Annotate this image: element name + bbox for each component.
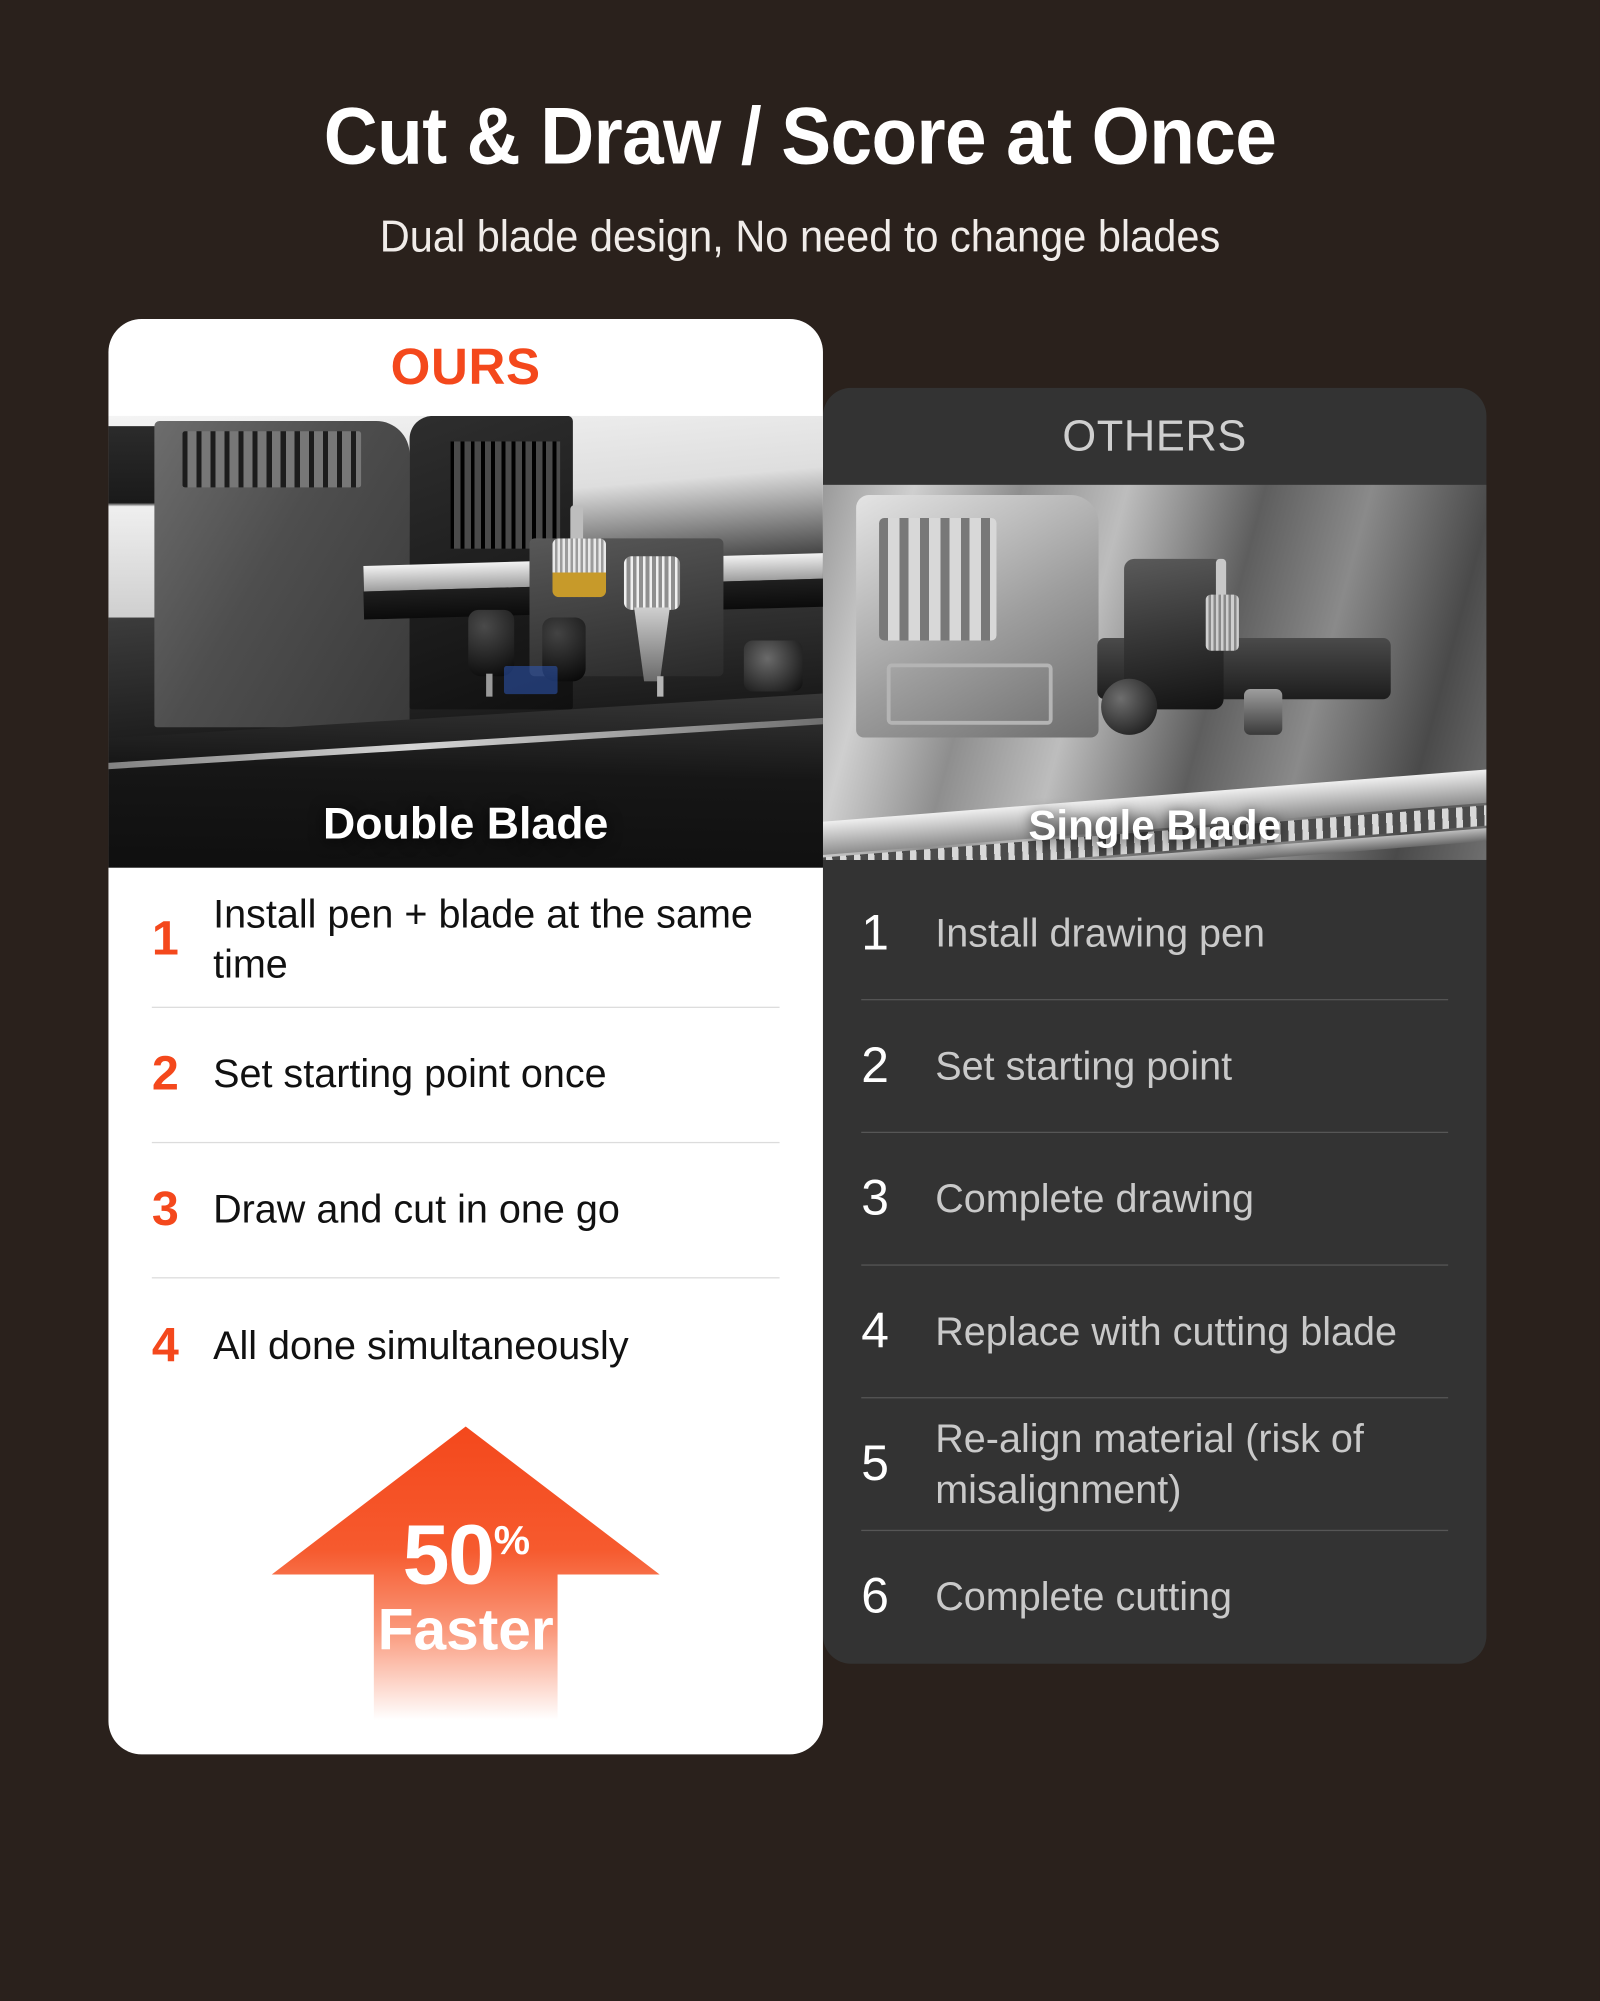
- step-number: 4: [152, 1319, 213, 1374]
- others-card: OTHERS Single Blade 1 Ins: [823, 388, 1486, 1664]
- step-text: Install pen + blade at the same time: [213, 891, 779, 989]
- others-badge: OTHERS: [1062, 412, 1247, 462]
- step-text: Set starting point: [935, 1041, 1232, 1092]
- step-text: All done simultaneously: [213, 1322, 629, 1371]
- step-text: Set starting point once: [213, 1051, 607, 1100]
- others-blade-knob-shape: [1206, 595, 1239, 651]
- others-vent-grille-shape: [879, 518, 996, 640]
- list-item: 6 Complete cutting: [861, 1531, 1448, 1664]
- ours-machine-photo: Double Blade: [108, 416, 823, 868]
- ours-steps-list: 1 Install pen + blade at the same time 2…: [108, 868, 823, 1414]
- page-title: Cut & Draw / Score at Once: [56, 94, 1544, 178]
- step-number: 3: [152, 1183, 213, 1238]
- list-item: 4 All done simultaneously: [152, 1279, 780, 1414]
- list-item: 5 Re-align material (risk of misalignmen…: [861, 1399, 1448, 1532]
- step-number: 2: [861, 1038, 935, 1094]
- step-number: 4: [861, 1304, 935, 1360]
- step-text: Complete cutting: [935, 1572, 1232, 1623]
- step-number: 3: [861, 1171, 935, 1227]
- step-text: Draw and cut in one go: [213, 1186, 620, 1235]
- others-card-header: OTHERS: [823, 388, 1486, 485]
- ours-roller-shape: [744, 641, 803, 692]
- ours-vent-grille-shape: [182, 431, 361, 487]
- header: Cut & Draw / Score at Once Dual blade de…: [0, 0, 1600, 263]
- infographic-stage: Cut & Draw / Score at Once Dual blade de…: [0, 0, 1600, 2001]
- faster-badge: 50% Faster: [108, 1419, 823, 1720]
- ours-card-header: OURS: [108, 319, 823, 416]
- ours-dark-vent-shape: [450, 442, 560, 549]
- list-item: 4 Replace with cutting blade: [861, 1266, 1448, 1399]
- step-text: Replace with cutting blade: [935, 1306, 1397, 1357]
- step-number: 5: [861, 1436, 935, 1492]
- ours-badge: OURS: [391, 339, 541, 396]
- up-arrow-icon: [262, 1419, 670, 1720]
- list-item: 3 Draw and cut in one go: [152, 1143, 780, 1278]
- step-number: 1: [152, 912, 213, 967]
- others-panel-plate-shape: [887, 663, 1053, 724]
- step-text: Re-align material (risk of misalignment): [935, 1414, 1448, 1515]
- list-item: 2 Set starting point once: [152, 1008, 780, 1143]
- others-roller-secondary-shape: [1244, 689, 1282, 735]
- list-item: 1 Install pen + blade at the same time: [152, 873, 780, 1008]
- ours-blade-point-shape: [657, 676, 663, 696]
- step-text: Install drawing pen: [935, 908, 1265, 959]
- list-item: 3 Complete drawing: [861, 1133, 1448, 1266]
- step-text: Complete drawing: [935, 1174, 1254, 1225]
- page-subtitle: Dual blade design, No need to change bla…: [56, 212, 1544, 263]
- ours-sensor-strip-shape: [504, 666, 558, 694]
- others-photo-label: Single Blade: [823, 801, 1486, 849]
- others-steps-list: 1 Install drawing pen 2 Set starting poi…: [823, 860, 1486, 1664]
- step-number: 2: [152, 1048, 213, 1103]
- ours-pen-tip-shape: [486, 674, 492, 697]
- others-roller-shape: [1101, 679, 1157, 735]
- ours-card: OURS: [108, 319, 823, 1754]
- list-item: 1 Install drawing pen: [861, 868, 1448, 1001]
- ours-silver-knob-shape: [624, 556, 680, 610]
- ours-gold-knob-shape: [552, 539, 606, 598]
- others-blade-pin-shape: [1216, 559, 1226, 600]
- ours-photo-label: Double Blade: [108, 799, 823, 850]
- comparison-cards: OTHERS Single Blade 1 Ins: [0, 319, 1600, 1825]
- step-number: 1: [861, 905, 935, 961]
- others-machine-photo: Single Blade: [823, 485, 1486, 860]
- list-item: 2 Set starting point: [861, 1000, 1448, 1133]
- step-number: 6: [861, 1570, 935, 1626]
